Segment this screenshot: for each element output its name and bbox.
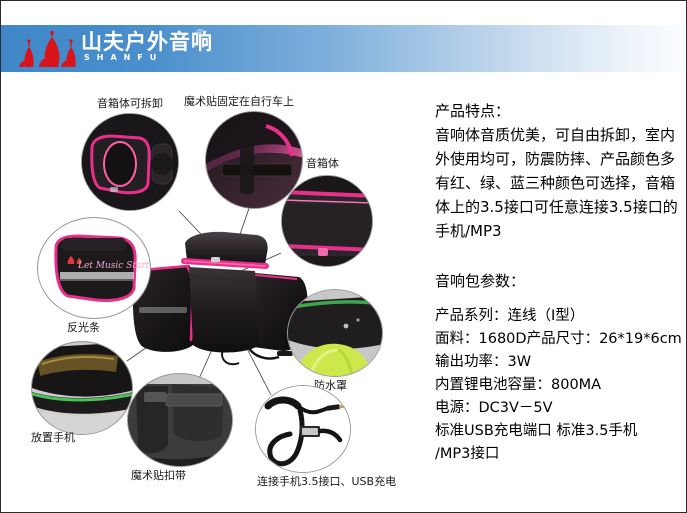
callout-label-cable-connection: 连接手机3.5接口、USB充电	[257, 475, 396, 488]
product-infographic-page: 山夫户外音响 SHANFU ® 产品特点： 音响体音质优美，可自由拆卸，室内外使…	[0, 0, 687, 513]
callout-label-phone-pocket: 放置手机	[31, 431, 75, 444]
photo-phone-pocket	[31, 341, 133, 435]
features-body: 音响体音质优美，可自由拆卸，室内外使用均可，防震防摔、产品颜色多有红、绿、蓝三种…	[435, 123, 679, 243]
spec-line: /MP3接口	[435, 443, 683, 466]
waterproof-cover-illustration	[288, 290, 383, 377]
brand-name-cn: 山夫户外音响	[81, 31, 261, 53]
photo-image	[128, 374, 232, 466]
phone-pocket-illustration	[32, 342, 133, 435]
product-info-column: 产品特点： 音响体音质优美，可自由拆卸，室内外使用均可，防震防摔、产品颜色多有红…	[435, 99, 683, 466]
callout-label-velcro-bike-mount: 魔术贴固定在自行车上	[184, 95, 294, 108]
features-heading: 产品特点：	[435, 99, 683, 123]
svg-text:Let Music Start Here: Let Music Start Here	[77, 261, 151, 271]
callout-label-velcro-buckle-strap: 魔术贴扣带	[131, 469, 186, 482]
brand-header-banner: 山夫户外音响 SHANFU ®	[1, 25, 687, 72]
callout-label-speaker-body: 音箱体	[306, 157, 339, 170]
spec-line: 电源：DC3V－5V	[435, 397, 683, 420]
photo-image: Let Music Start Here	[38, 218, 150, 318]
reflective-strip-illustration: Let Music Start Here	[38, 218, 151, 319]
spec-line: 面料：1680D产品尺寸：26*19*6cm	[435, 328, 683, 351]
photo-waterproof-cover	[287, 289, 383, 377]
photo-reflective-strip: Let Music Start Here	[37, 217, 151, 319]
photo-detachable-speaker	[81, 113, 179, 211]
specs-list: 产品系列：连线（Ⅰ型） 面料：1680D产品尺寸：26*19*6cm 输出功率：…	[435, 305, 683, 466]
mountain-tent-logo-icon	[15, 31, 77, 69]
cable-connection-illustration	[256, 386, 351, 473]
callout-label-reflective-strip: 反光条	[67, 321, 100, 334]
photo-image	[82, 114, 178, 210]
photo-cable-connection	[255, 385, 351, 473]
velcro-buckle-strap-illustration	[128, 374, 233, 467]
brand-logo-text: 山夫户外音响 SHANFU	[81, 31, 261, 71]
registered-trademark-icon: ®	[195, 29, 205, 39]
brand-name-en: SHANFU	[81, 53, 261, 63]
photo-speaker-body	[281, 175, 373, 267]
photo-image	[256, 386, 350, 472]
speaker-body-illustration	[282, 176, 373, 267]
product-photo-collage: 音箱体可拆卸 魔术贴固定在自行车上	[9, 93, 427, 501]
callout-label-detachable-speaker: 音箱体可拆卸	[97, 97, 163, 110]
spec-line: 产品系列：连线（Ⅰ型）	[435, 305, 683, 328]
specs-heading: 音响包参数：	[435, 269, 683, 293]
spec-line: 输出功率：3W	[435, 351, 683, 374]
photo-image	[32, 342, 132, 434]
photo-image	[288, 290, 382, 376]
photo-image	[282, 176, 372, 266]
detachable-speaker-illustration	[82, 114, 179, 211]
brand-logo: 山夫户外音响 SHANFU ®	[15, 27, 275, 72]
spec-line: 内置锂电池容量：800MA	[435, 374, 683, 397]
photo-velcro-buckle-strap	[127, 373, 233, 467]
spec-line: 标准USB充电端口 标准3.5手机	[435, 420, 683, 443]
